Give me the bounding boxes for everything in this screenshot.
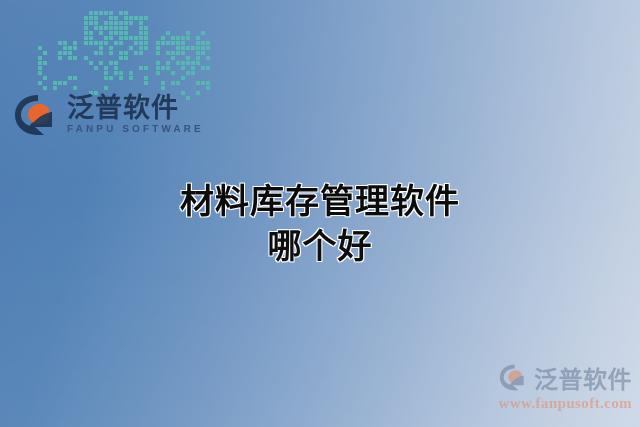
- skyline-pixel: [166, 36, 170, 40]
- skyline-pixel: [99, 66, 103, 70]
- skyline-pixel: [156, 36, 160, 40]
- skyline-pixel: [201, 36, 205, 40]
- skyline-pixel: [206, 96, 210, 100]
- skyline-pixel: [201, 46, 205, 50]
- skyline-pixel: [48, 61, 52, 65]
- skyline-pixel: [68, 86, 72, 90]
- skyline-pixel: [114, 56, 118, 60]
- skyline-pixel: [196, 31, 200, 35]
- skyline-pixel: [99, 51, 103, 55]
- skyline-pixel: [89, 11, 93, 15]
- skyline-pixel: [161, 66, 165, 70]
- skyline-pixel: [94, 56, 98, 60]
- skyline-pixel: [129, 36, 133, 40]
- skyline-pixel: [156, 56, 160, 60]
- skyline-pixel: [171, 71, 175, 75]
- skyline-pixel: [104, 56, 108, 60]
- skyline-pixel: [139, 16, 143, 20]
- skyline-pixel: [114, 86, 118, 90]
- skyline-pixel: [114, 41, 118, 45]
- skyline-pixel: [84, 41, 88, 45]
- skyline-pixel: [124, 86, 128, 90]
- skyline-pixel: [144, 21, 148, 25]
- skyline-pixel: [48, 41, 52, 45]
- skyline-pixel: [176, 36, 180, 40]
- skyline-pixel: [196, 41, 200, 45]
- skyline-pixel: [68, 56, 72, 60]
- skyline-pixel: [186, 71, 190, 75]
- skyline-pixel: [176, 31, 180, 35]
- skyline-pixel: [53, 46, 57, 50]
- skyline-pixel: [206, 51, 210, 55]
- skyline-pixel: [134, 11, 138, 15]
- skyline-pixel: [104, 36, 108, 40]
- skyline-pixel: [89, 51, 93, 55]
- skyline-pixel: [191, 86, 195, 90]
- skyline-pixel: [94, 36, 98, 40]
- skyline-pixel: [124, 46, 128, 50]
- skyline-pixel: [114, 26, 118, 30]
- skyline-pixel: [73, 66, 77, 70]
- skyline-pixel: [119, 46, 123, 50]
- skyline-pixel: [206, 41, 210, 45]
- skyline-pixel: [206, 81, 210, 85]
- skyline-pixel: [119, 31, 123, 35]
- skyline-pixel: [84, 51, 88, 55]
- skyline-pixel: [176, 46, 180, 50]
- skyline-pixel: [156, 66, 160, 70]
- skyline-pixel: [99, 36, 103, 40]
- skyline-pixel: [186, 36, 190, 40]
- skyline-pixel: [99, 41, 103, 45]
- skyline-pixel: [139, 76, 143, 80]
- skyline-pixel: [166, 46, 170, 50]
- skyline-pixel: [134, 56, 138, 60]
- skyline-pixel: [99, 26, 103, 30]
- skyline-pixel: [43, 61, 47, 65]
- skyline-pixel: [43, 81, 47, 85]
- skyline-pixel: [166, 31, 170, 35]
- skyline-pixel: [38, 66, 42, 70]
- skyline-pixel: [144, 66, 148, 70]
- skyline-pixel: [73, 61, 77, 65]
- skyline-pixel: [166, 81, 170, 85]
- skyline-pixel: [68, 46, 72, 50]
- skyline-pixel: [134, 86, 138, 90]
- skyline-pixel: [58, 71, 62, 75]
- skyline-pixel: [73, 81, 77, 85]
- skyline-pixel: [196, 86, 200, 90]
- skyline-pixel: [63, 66, 67, 70]
- skyline-pixel: [89, 26, 93, 30]
- skyline-pixel: [139, 36, 143, 40]
- skyline-pixel: [124, 81, 128, 85]
- skyline-pixel: [139, 86, 143, 90]
- skyline-pixel: [181, 61, 185, 65]
- skyline-pixel: [196, 36, 200, 40]
- skyline-pixel: [144, 81, 148, 85]
- skyline-pixel: [114, 66, 118, 70]
- skyline-pixel: [166, 51, 170, 55]
- skyline-pixel: [166, 71, 170, 75]
- skyline-pixel: [84, 76, 88, 80]
- skyline-pixel: [104, 11, 108, 15]
- skyline-pixel: [129, 56, 133, 60]
- skyline-pixel: [144, 46, 148, 50]
- skyline-pixel: [89, 66, 93, 70]
- skyline-pixel: [166, 66, 170, 70]
- skyline-pixel: [124, 31, 128, 35]
- skyline-pixel: [53, 76, 57, 80]
- skyline-pixel: [48, 51, 52, 55]
- skyline-pixel: [206, 71, 210, 75]
- skyline-pixel: [104, 46, 108, 50]
- skyline-pixel: [171, 36, 175, 40]
- skyline-pixel: [139, 46, 143, 50]
- skyline-pixel: [196, 51, 200, 55]
- skyline-pixel: [58, 76, 62, 80]
- skyline-pixel: [206, 86, 210, 90]
- skyline-pixel: [48, 76, 52, 80]
- skyline-pixel: [124, 61, 128, 65]
- skyline-pixel: [206, 61, 210, 65]
- skyline-pixel: [171, 61, 175, 65]
- skyline-pixel: [114, 31, 118, 35]
- skyline-pixel: [134, 26, 138, 30]
- skyline-pixel: [63, 46, 67, 50]
- skyline-pixel: [48, 86, 52, 90]
- skyline-pixel: [68, 61, 72, 65]
- skyline-pixel: [38, 61, 42, 65]
- skyline-pixel: [84, 66, 88, 70]
- skyline-pixel: [176, 61, 180, 65]
- skyline-pixel: [139, 66, 143, 70]
- skyline-pixel: [94, 86, 98, 90]
- skyline-pixel: [48, 66, 52, 70]
- fanpu-logo-icon: [499, 364, 529, 391]
- skyline-pixel: [144, 16, 148, 20]
- skyline-pixel: [68, 81, 72, 85]
- skyline-pixel: [84, 16, 88, 20]
- skyline-pixel: [119, 41, 123, 45]
- skyline-pixel: [73, 46, 77, 50]
- skyline-pixel: [63, 51, 67, 55]
- skyline-pixel: [109, 11, 113, 15]
- skyline-pixel: [201, 61, 205, 65]
- skyline-pixel: [206, 36, 210, 40]
- skyline-pixel: [196, 76, 200, 80]
- skyline-pixel: [171, 81, 175, 85]
- skyline-pixel: [124, 11, 128, 15]
- watermark-brand-name: 泛普软件: [534, 360, 632, 395]
- skyline-pixel: [73, 76, 77, 80]
- page-title-line-2: 哪个好: [0, 225, 640, 270]
- skyline-pixel: [89, 86, 93, 90]
- skyline-pixel: [53, 71, 57, 75]
- skyline-pixel: [109, 56, 113, 60]
- skyline-pixel: [53, 56, 57, 60]
- skyline-pixel: [104, 51, 108, 55]
- skyline-pixel: [119, 71, 123, 75]
- skyline-pixel: [89, 71, 93, 75]
- skyline-pixel: [176, 51, 180, 55]
- skyline-pixel: [94, 76, 98, 80]
- skyline-pixel: [201, 31, 205, 35]
- watermark-url: www.fanpusoft.com: [499, 396, 632, 413]
- skyline-pixel: [201, 81, 205, 85]
- skyline-pixel: [104, 16, 108, 20]
- skyline-pixel: [84, 31, 88, 35]
- skyline-pixel: [201, 66, 205, 70]
- skyline-pixel: [196, 81, 200, 85]
- page-title-line-1: 材料库存管理软件: [0, 180, 640, 225]
- skyline-pixel: [68, 41, 72, 45]
- skyline-pixel: [94, 16, 98, 20]
- skyline-pixel: [144, 26, 148, 30]
- skyline-pixel: [166, 86, 170, 90]
- skyline-pixel: [114, 36, 118, 40]
- skyline-pixel: [58, 46, 62, 50]
- skyline-pixel: [114, 61, 118, 65]
- skyline-pixel: [129, 16, 133, 20]
- skyline-pixel: [191, 36, 195, 40]
- skyline-pixel: [89, 21, 93, 25]
- skyline-pixel: [171, 66, 175, 70]
- skyline-pixel: [53, 51, 57, 55]
- skyline-pixel: [206, 31, 210, 35]
- skyline-pixel: [134, 76, 138, 80]
- skyline-pixel: [129, 76, 133, 80]
- skyline-pixel: [196, 66, 200, 70]
- skyline-pixel: [191, 51, 195, 55]
- skyline-pixel: [53, 61, 57, 65]
- skyline-pixel: [156, 46, 160, 50]
- skyline-pixel: [161, 71, 165, 75]
- skyline-pixel: [109, 51, 113, 55]
- skyline-pixel: [84, 71, 88, 75]
- skyline-pixel: [139, 61, 143, 65]
- skyline-pixel: [63, 71, 67, 75]
- skyline-pixel: [201, 71, 205, 75]
- skyline-pixel: [114, 81, 118, 85]
- skyline-pixel: [171, 51, 175, 55]
- skyline-pixel: [144, 61, 148, 65]
- skyline-pixel: [119, 76, 123, 80]
- skyline-pixel: [166, 56, 170, 60]
- skyline-pixel: [144, 11, 148, 15]
- skyline-pixel: [99, 31, 103, 35]
- skyline-pixel: [84, 56, 88, 60]
- skyline-pixel: [129, 51, 133, 55]
- skyline-pixel: [181, 56, 185, 60]
- skyline-pixel: [206, 91, 210, 95]
- skyline-pixel: [156, 76, 160, 80]
- skyline-pixel: [139, 31, 143, 35]
- skyline-pixel: [43, 76, 47, 80]
- skyline-pixel: [94, 46, 98, 50]
- skyline-pixel: [43, 71, 47, 75]
- skyline-pixel: [38, 41, 42, 45]
- skyline-pixel: [94, 61, 98, 65]
- skyline-pixel: [124, 66, 128, 70]
- skyline-pixel: [129, 26, 133, 30]
- skyline-pixel: [139, 21, 143, 25]
- skyline-pixel: [119, 21, 123, 25]
- skyline-pixel: [129, 81, 133, 85]
- skyline-pixel: [144, 86, 148, 90]
- skyline-pixel: [99, 76, 103, 80]
- skyline-pixel: [68, 66, 72, 70]
- skyline-pixel: [89, 61, 93, 65]
- skyline-pixel: [196, 56, 200, 60]
- skyline-pixel: [181, 71, 185, 75]
- skyline-pixel: [186, 46, 190, 50]
- skyline-pixel: [114, 21, 118, 25]
- skyline-pixel: [94, 81, 98, 85]
- skyline-pixel: [129, 46, 133, 50]
- skyline-pixel: [53, 81, 57, 85]
- skyline-pixel: [144, 71, 148, 75]
- skyline-pixel: [94, 21, 98, 25]
- skyline-pixel: [68, 76, 72, 80]
- skyline-pixel: [94, 11, 98, 15]
- skyline-pixel: [201, 56, 205, 60]
- skyline-pixel: [139, 51, 143, 55]
- skyline-pixel: [186, 66, 190, 70]
- skyline-pixel: [156, 81, 160, 85]
- skyline-pixel: [119, 86, 123, 90]
- skyline-pixel: [129, 71, 133, 75]
- skyline-pixel: [109, 41, 113, 45]
- skyline-pixel: [196, 71, 200, 75]
- skyline-pixel: [124, 56, 128, 60]
- skyline-pixel: [191, 41, 195, 45]
- skyline-pixel: [104, 41, 108, 45]
- skyline-pixel: [63, 56, 67, 60]
- skyline-pixel: [181, 86, 185, 90]
- skyline-pixel: [139, 41, 143, 45]
- skyline-pixel: [58, 61, 62, 65]
- skyline-pixel: [94, 26, 98, 30]
- skyline-pixel: [48, 56, 52, 60]
- skyline-pixel: [191, 71, 195, 75]
- skyline-pixel: [99, 86, 103, 90]
- skyline-pixel: [109, 86, 113, 90]
- skyline-pixel: [99, 46, 103, 50]
- skyline-pixel: [134, 31, 138, 35]
- skyline-pixel: [144, 56, 148, 60]
- skyline-pixel: [191, 31, 195, 35]
- skyline-pixel: [109, 76, 113, 80]
- skyline-pixel: [73, 71, 77, 75]
- skyline-pixel: [104, 76, 108, 80]
- skyline-pixel: [84, 36, 88, 40]
- skyline-pixel: [206, 56, 210, 60]
- skyline-pixel: [124, 41, 128, 45]
- pixel-skyline-icon: [38, 4, 168, 100]
- skyline-pixel: [156, 31, 160, 35]
- skyline-tower-left: [38, 40, 77, 100]
- skyline-pixel: [161, 31, 165, 35]
- skyline-pixel: [109, 16, 113, 20]
- skyline-pixel: [73, 51, 77, 55]
- skyline-pixel: [124, 21, 128, 25]
- skyline-pixel: [109, 66, 113, 70]
- skyline-pixel: [89, 46, 93, 50]
- skyline-pixel: [99, 11, 103, 15]
- skyline-pixel: [181, 51, 185, 55]
- skyline-pixel: [99, 81, 103, 85]
- skyline-pixel: [186, 86, 190, 90]
- skyline-pixel: [43, 66, 47, 70]
- skyline-pixel: [134, 21, 138, 25]
- skyline-pixel: [201, 41, 205, 45]
- skyline-pixel: [94, 41, 98, 45]
- skyline-pixel: [114, 16, 118, 20]
- skyline-pixel: [171, 76, 175, 80]
- fanpu-logo-icon: [14, 94, 60, 136]
- skyline-pixel: [38, 86, 42, 90]
- skyline-pixel: [58, 86, 62, 90]
- skyline-pixel: [68, 51, 72, 55]
- skyline-pixel: [94, 31, 98, 35]
- skyline-pixel: [114, 46, 118, 50]
- skyline-pixel: [109, 81, 113, 85]
- skyline-pixel: [63, 61, 67, 65]
- skyline-pixel: [156, 51, 160, 55]
- skyline-pixel: [119, 26, 123, 30]
- skyline-pixel: [191, 81, 195, 85]
- skyline-pixel: [201, 86, 205, 90]
- skyline-pixel: [129, 41, 133, 45]
- skyline-pixel: [63, 76, 67, 80]
- skyline-pixel: [166, 76, 170, 80]
- skyline-pixel: [48, 71, 52, 75]
- skyline-pixel: [43, 86, 47, 90]
- skyline-pixel: [58, 81, 62, 85]
- skyline-pixel: [134, 81, 138, 85]
- skyline-pixel: [134, 41, 138, 45]
- skyline-pixel: [144, 36, 148, 40]
- skyline-pixel: [144, 31, 148, 35]
- skyline-pixel: [58, 51, 62, 55]
- skyline-pixel: [43, 56, 47, 60]
- skyline-pixel: [161, 36, 165, 40]
- skyline-pixel: [191, 56, 195, 60]
- skyline-pixel: [43, 46, 47, 50]
- skyline-pixel: [129, 31, 133, 35]
- skyline-pixel: [104, 31, 108, 35]
- skyline-pixel: [124, 51, 128, 55]
- skyline-pixel: [99, 16, 103, 20]
- skyline-pixel: [134, 51, 138, 55]
- skyline-pixel: [186, 61, 190, 65]
- skyline-pixel: [89, 76, 93, 80]
- skyline-pixel: [84, 46, 88, 50]
- skyline-pixel: [53, 41, 57, 45]
- skyline-pixel: [171, 41, 175, 45]
- skyline-pixel: [161, 51, 165, 55]
- skyline-pixel: [171, 86, 175, 90]
- skyline-pixel: [139, 11, 143, 15]
- skyline-pixel: [134, 16, 138, 20]
- skyline-pixel: [99, 21, 103, 25]
- skyline-pixel: [171, 56, 175, 60]
- skyline-pixel: [104, 26, 108, 30]
- skyline-pixel: [114, 76, 118, 80]
- skyline-pixel: [171, 31, 175, 35]
- skyline-pixel: [166, 61, 170, 65]
